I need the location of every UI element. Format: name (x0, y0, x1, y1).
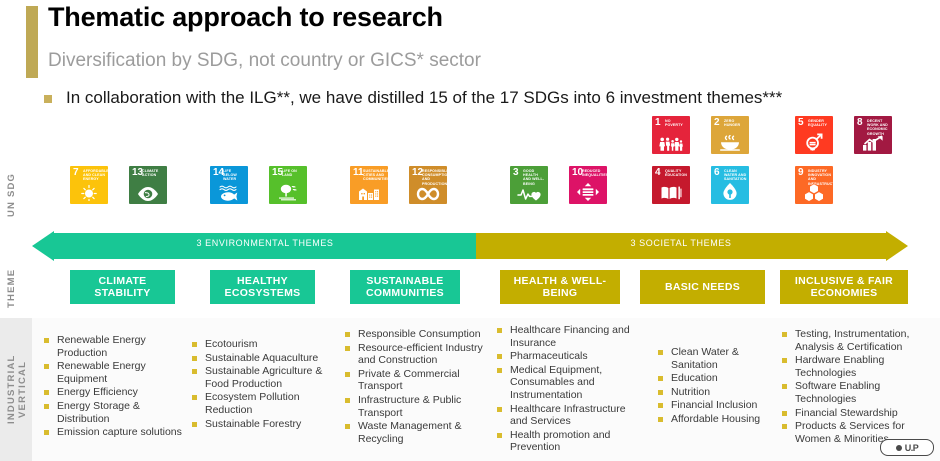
sdg-icon-label: LIFE BELOW WATER (223, 169, 246, 182)
vertical-list-item: Affordable Housing (658, 413, 788, 426)
sdg-icon-8: 8DECENT WORK AND ECONOMIC GROWTH (854, 116, 892, 154)
vertical-list-item: Testing, Instrumentation, Analysis & Cer… (782, 328, 932, 353)
sdg-icon-number: 9 (798, 168, 804, 178)
sdg-icon-6: 6CLEAN WATER AND SANITATION (711, 166, 749, 204)
sdg-icon-11: 11SUSTAINABLE CITIES AND COMMUNITIES (350, 166, 388, 204)
slide-root: Thematic approach to research Diversific… (0, 0, 940, 461)
logo-text: U.P (905, 443, 919, 453)
brand-logo: U.P (880, 439, 934, 456)
page-title: Thematic approach to research (48, 2, 443, 33)
sdg-icon-number: 6 (714, 168, 720, 178)
sdg-icon-12: 12RESPONSIBLE CONSUMPTION AND PRODUCTION (409, 166, 447, 204)
vertical-list-item: Infrastructure & Public Transport (345, 394, 490, 419)
sdg-icon-label: LIFE ON LAND (282, 169, 305, 177)
sdg-icon-4: 4QUALITY EDUCATION (652, 166, 690, 204)
vertical-list-item: Resource-efficient Industry and Construc… (345, 342, 490, 367)
lead-bullet-marker (44, 95, 52, 103)
sdg-icon-label: ZERO HUNGER (724, 119, 747, 127)
vertical-list-item: Emission capture solutions (44, 426, 194, 439)
sdg-icon-label: RESPONSIBLE CONSUMPTION AND PRODUCTION (422, 169, 445, 186)
sdg-icon-number: 8 (857, 118, 863, 128)
vertical-list-item: Renewable Energy Production (44, 334, 194, 359)
vertical-list-item: Sustainable Agriculture & Food Productio… (192, 365, 342, 390)
theme-box[interactable]: CLIMATE STABILITY (70, 270, 175, 304)
sdg-icon-9: 9INDUSTRY INNOVATION AND INFRASTRUCTURE (795, 166, 833, 204)
logo-dot-icon (896, 445, 902, 451)
theme-box[interactable]: BASIC NEEDS (640, 270, 765, 304)
sdg-icon-label: GOOD HEALTH AND WELL-BEING (523, 169, 546, 186)
theme-box[interactable]: SUSTAINABLE COMMUNITIES (350, 270, 460, 304)
band-label-environmental: 3 ENVIRONMENTAL THEMES (54, 238, 476, 248)
industrial-vertical-column: Testing, Instrumentation, Analysis & Cer… (782, 328, 932, 446)
sdg-icon-number: 11 (353, 168, 364, 178)
sdg-icon-number: 4 (655, 168, 661, 178)
industrial-vertical-column: Clean Water & SanitationEducationNutriti… (658, 346, 788, 427)
axis-label-un-sdg: UN SDG (6, 160, 17, 230)
sdg-icon-label: CLIMATE ACTION (142, 169, 165, 177)
vertical-list-item: Education (658, 372, 788, 385)
vertical-list-item: Pharmaceuticals (497, 350, 645, 363)
theme-box[interactable]: HEALTH & WELL-BEING (500, 270, 620, 304)
industrial-vertical-column: Healthcare Financing and InsurancePharma… (497, 324, 645, 455)
vertical-list-item: Sustainable Forestry (192, 418, 342, 431)
vertical-list-item: Hardware Enabling Technologies (782, 354, 932, 379)
sdg-icon-number: 3 (513, 168, 519, 178)
vertical-list-item: Ecosystem Pollution Reduction (192, 391, 342, 416)
sdg-icon-label: AFFORDABLE AND CLEAN ENERGY (83, 169, 106, 182)
industrial-vertical-column: Renewable Energy ProductionRenewable Ene… (44, 334, 194, 440)
sdg-icon-number: 5 (798, 118, 804, 128)
vertical-list-item: Nutrition (658, 386, 788, 399)
sdg-icon-7: 7AFFORDABLE AND CLEAN ENERGY (70, 166, 108, 204)
vertical-list-item: Healthcare Infrastructure and Services (497, 403, 645, 428)
vertical-list-item: Medical Equipment, Consumables and Instr… (497, 364, 645, 402)
sdg-icon-label: REDUCED INEQUALITIES (582, 169, 605, 177)
sdg-icon-label: SUSTAINABLE CITIES AND COMMUNITIES (363, 169, 386, 182)
theme-box[interactable]: INCLUSIVE & FAIR ECONOMIES (780, 270, 908, 304)
sdg-icon-14: 14LIFE BELOW WATER (210, 166, 248, 204)
sdg-icon-1: 1NO POVERTY (652, 116, 690, 154)
vertical-list-item: Healthcare Financing and Insurance (497, 324, 645, 349)
sdg-icon-number: 1 (655, 118, 661, 128)
vertical-list-item: Renewable Energy Equipment (44, 360, 194, 385)
sdg-icon-13: 13CLIMATE ACTION (129, 166, 167, 204)
vertical-list-item: Energy Storage & Distribution (44, 400, 194, 425)
title-accent-bar (26, 6, 38, 78)
lead-statement: In collaboration with the ILG**, we have… (66, 88, 782, 108)
sdg-icon-label: QUALITY EDUCATION (665, 169, 688, 177)
sdg-icon-3: 3GOOD HEALTH AND WELL-BEING (510, 166, 548, 204)
page-subtitle: Diversification by SDG, not country or G… (48, 50, 481, 72)
sdg-icon-15: 15LIFE ON LAND (269, 166, 307, 204)
sdg-icon-5: 5GENDER EQUALITY (795, 116, 833, 154)
industrial-vertical-column: EcotourismSustainable AquacultureSustain… (192, 338, 342, 431)
sdg-icon-number: 7 (73, 168, 79, 178)
sdg-icon-label: NO POVERTY (665, 119, 688, 127)
vertical-list-item: Responsible Consumption (345, 328, 490, 341)
axis-label-theme: THEME (6, 262, 17, 314)
vertical-list-item: Health promotion and Prevention (497, 429, 645, 454)
theme-box[interactable]: HEALTHY ECOSYSTEMS (210, 270, 315, 304)
vertical-list-item: Energy Efficiency (44, 386, 194, 399)
sdg-icon-label: DECENT WORK AND ECONOMIC GROWTH (867, 119, 890, 136)
theme-direction-arrow: 3 ENVIRONMENTAL THEMES3 SOCIETAL THEMES (32, 231, 908, 261)
vertical-list-item: Financial Inclusion (658, 399, 788, 412)
vertical-list-item: Waste Management & Recycling (345, 420, 490, 445)
sdg-icon-10: 10REDUCED INEQUALITIES (569, 166, 607, 204)
vertical-list-item: Financial Stewardship (782, 407, 932, 420)
band-label-societal: 3 SOCIETAL THEMES (476, 238, 886, 248)
vertical-list-item: Sustainable Aquaculture (192, 352, 342, 365)
vertical-list-item: Ecotourism (192, 338, 342, 351)
vertical-list-item: Clean Water & Sanitation (658, 346, 788, 371)
sdg-icon-2: 2ZERO HUNGER (711, 116, 749, 154)
sdg-icon-label: GENDER EQUALITY (808, 119, 831, 127)
sdg-icon-number: 2 (714, 118, 720, 128)
axis-label-industrial-vertical: INDUSTRIAL VERTICAL (6, 330, 28, 448)
industrial-vertical-column: Responsible ConsumptionResource-efficien… (345, 328, 490, 446)
vertical-list-item: Software Enabling Technologies (782, 380, 932, 405)
sdg-icon-label: CLEAN WATER AND SANITATION (724, 169, 747, 182)
vertical-list-item: Private & Commercial Transport (345, 368, 490, 393)
